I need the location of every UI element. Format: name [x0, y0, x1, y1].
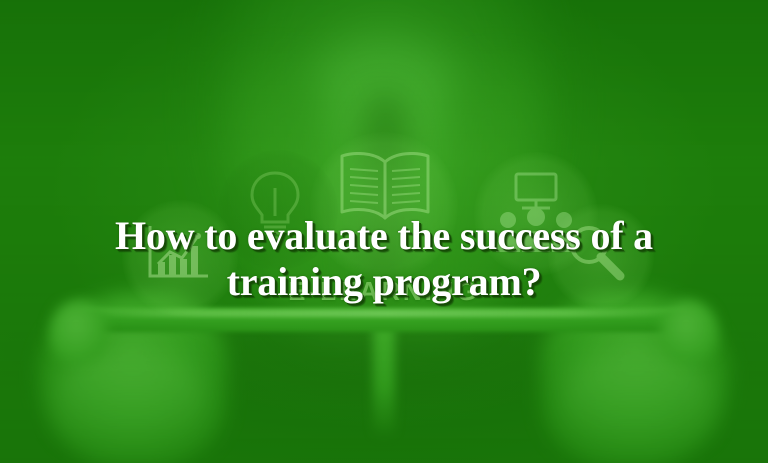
hero-banner: E-LEARNING How to evaluate the success o… — [0, 0, 768, 463]
headline-line-1: How to evaluate the success of a — [115, 213, 653, 258]
page-title: How to evaluate the success of a trainin… — [0, 213, 768, 305]
headline-line-2: training program? — [48, 259, 720, 305]
